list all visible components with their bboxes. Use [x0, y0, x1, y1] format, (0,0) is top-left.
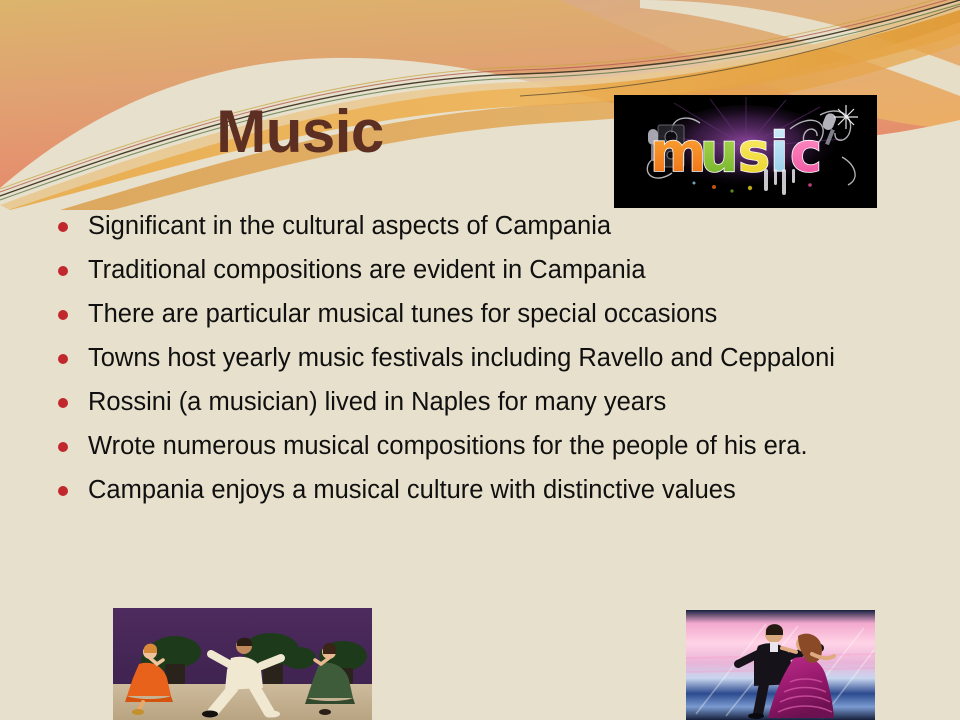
svg-text:m: m: [650, 121, 706, 184]
bullet-dot-icon: [58, 354, 68, 364]
list-item: Significant in the cultural aspects of C…: [48, 208, 928, 245]
bullet-dot-icon: [58, 266, 68, 276]
bullet-dot-icon: [58, 442, 68, 452]
list-item: Towns host yearly music festivals includ…: [48, 340, 928, 377]
bullet-dot-icon: [58, 398, 68, 408]
list-item: Traditional compositions are evident in …: [48, 252, 928, 289]
slide-title: Music: [0, 102, 600, 162]
bullet-text: Traditional compositions are evident in …: [88, 252, 928, 289]
presentation-slide: Music: [0, 0, 960, 720]
bullet-dot-icon: [58, 310, 68, 320]
bullet-text: Significant in the cultural aspects of C…: [88, 208, 928, 245]
bullet-text: Wrote numerous musical compositions for …: [88, 428, 928, 465]
music-wordmark-image: m u s i c: [614, 95, 877, 208]
bullet-dot-icon: [58, 486, 68, 496]
bullet-text: Towns host yearly music festivals includ…: [88, 340, 928, 377]
svg-text:u: u: [700, 121, 738, 184]
bullet-dot-icon: [58, 222, 68, 232]
stage-dancers-photo: [113, 608, 372, 720]
bullet-text: Rossini (a musician) lived in Naples for…: [88, 384, 928, 421]
list-item: Rossini (a musician) lived in Naples for…: [48, 384, 928, 421]
list-item: Wrote numerous musical compositions for …: [48, 428, 928, 465]
ballroom-couple-photo: [686, 610, 875, 720]
bullet-list: Significant in the cultural aspects of C…: [48, 208, 928, 516]
list-item: Campania enjoys a musical culture with d…: [48, 472, 928, 509]
bullet-text: Campania enjoys a musical culture with d…: [88, 472, 928, 509]
list-item: There are particular musical tunes for s…: [48, 296, 928, 333]
bullet-text: There are particular musical tunes for s…: [88, 296, 928, 333]
